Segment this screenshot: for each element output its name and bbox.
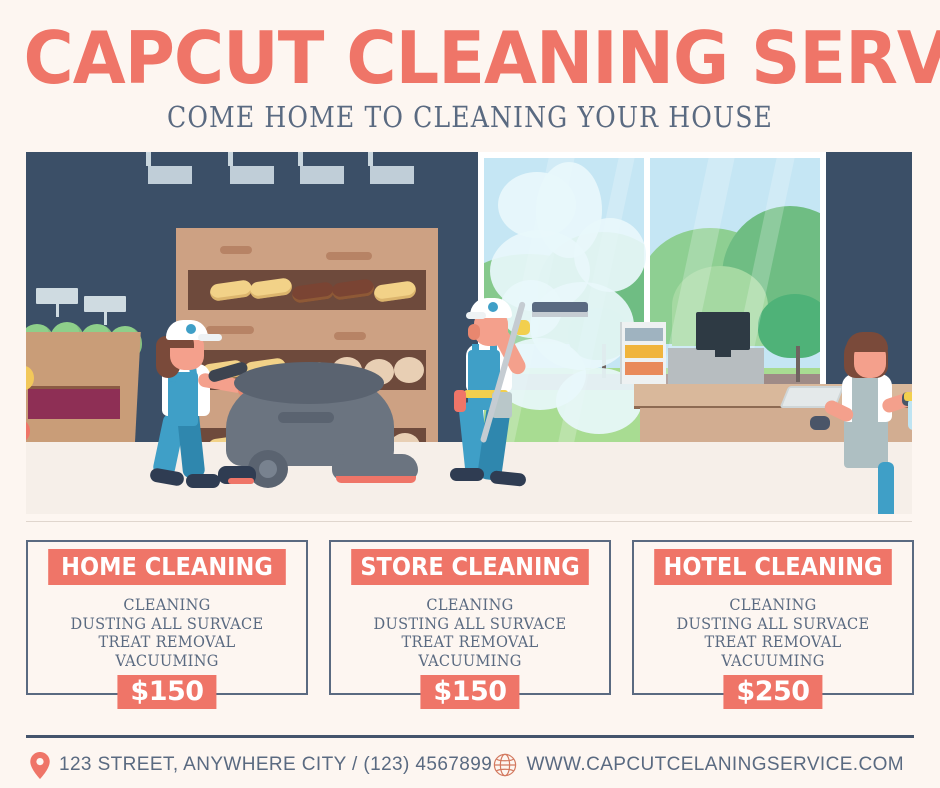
website-text: WWW.CAPCUTCELANINGSERVICE.COM [526,754,904,776]
spray-bottle-icon [908,400,912,430]
page-subtitle: COME HOME TO CLEANING YOUR HOUSE [33,94,907,135]
pricing-card-store[interactable]: STORE CLEANING CLEANING DUSTING ALL SURV… [329,540,611,695]
list-item: TREAT REMOVAL [36,633,297,652]
magazine-rack [620,322,666,384]
shelf-price-tag [84,296,126,312]
globe-icon [493,753,517,777]
page-title: CAPCUT CLEANING SERVICE [24,0,917,96]
footer-website[interactable]: WWW.CAPCUTCELANINGSERVICE.COM [493,753,904,777]
price-badge: $150 [117,675,216,709]
card-title: HOTEL CLEANING [654,549,892,585]
list-item: CLEANING [642,596,903,615]
list-item: CLEANING [339,596,600,615]
soap-suds [574,218,646,292]
poster-header: CAPCUT CLEANING SERVICE COME HOME TO CLE… [0,0,940,134]
list-item: TREAT REMOVAL [642,633,903,652]
card-service-list: CLEANING DUSTING ALL SURVACE TREAT REMOV… [339,596,600,670]
price-badge: $150 [420,675,519,709]
list-item: TREAT REMOVAL [339,633,600,652]
shelf-price-tag [36,288,78,304]
card-service-list: CLEANING DUSTING ALL SURVACE TREAT REMOV… [36,596,297,670]
list-item: DUSTING ALL SURVACE [339,615,600,634]
address-text: 123 STREET, ANYWHERE CITY / (123) 456789… [59,754,492,776]
poster-canvas: CAPCUT CLEANING SERVICE COME HOME TO CLE… [0,0,940,788]
pricing-card-home[interactable]: HOME CLEANING CLEANING DUSTING ALL SURVA… [26,540,308,695]
list-item: DUSTING ALL SURVACE [36,615,297,634]
footer-address: 123 STREET, ANYWHERE CITY / (123) 456789… [30,752,492,779]
list-item: VACUUMING [642,652,903,671]
price-badge: $250 [723,675,822,709]
card-title: STORE CLEANING [351,549,589,585]
hero-illustration [26,152,912,514]
worker-floor-scrubber [146,310,386,510]
footer-divider [26,735,914,738]
location-pin-icon [30,752,50,779]
card-title: HOME CLEANING [48,549,286,585]
card-service-list: CLEANING DUSTING ALL SURVACE TREAT REMOV… [642,596,903,670]
illustration-divider [26,521,912,522]
floor-scrubber-machine [226,354,426,494]
worker-window-washer [444,262,584,512]
pricing-cards: HOME CLEANING CLEANING DUSTING ALL SURVA… [26,540,914,710]
list-item: DUSTING ALL SURVACE [642,615,903,634]
list-item: CLEANING [36,596,297,615]
pos-monitor-icon [696,312,750,350]
list-item: VACUUMING [36,652,297,671]
pricing-card-hotel[interactable]: HOTEL CLEANING CLEANING DUSTING ALL SURV… [632,540,914,695]
produce-shelf [28,386,120,419]
list-item: VACUUMING [339,652,600,671]
worker-counter-wiper [826,312,912,512]
bread-shelf [188,270,426,310]
poster-footer: 123 STREET, ANYWHERE CITY / (123) 456789… [26,748,914,782]
